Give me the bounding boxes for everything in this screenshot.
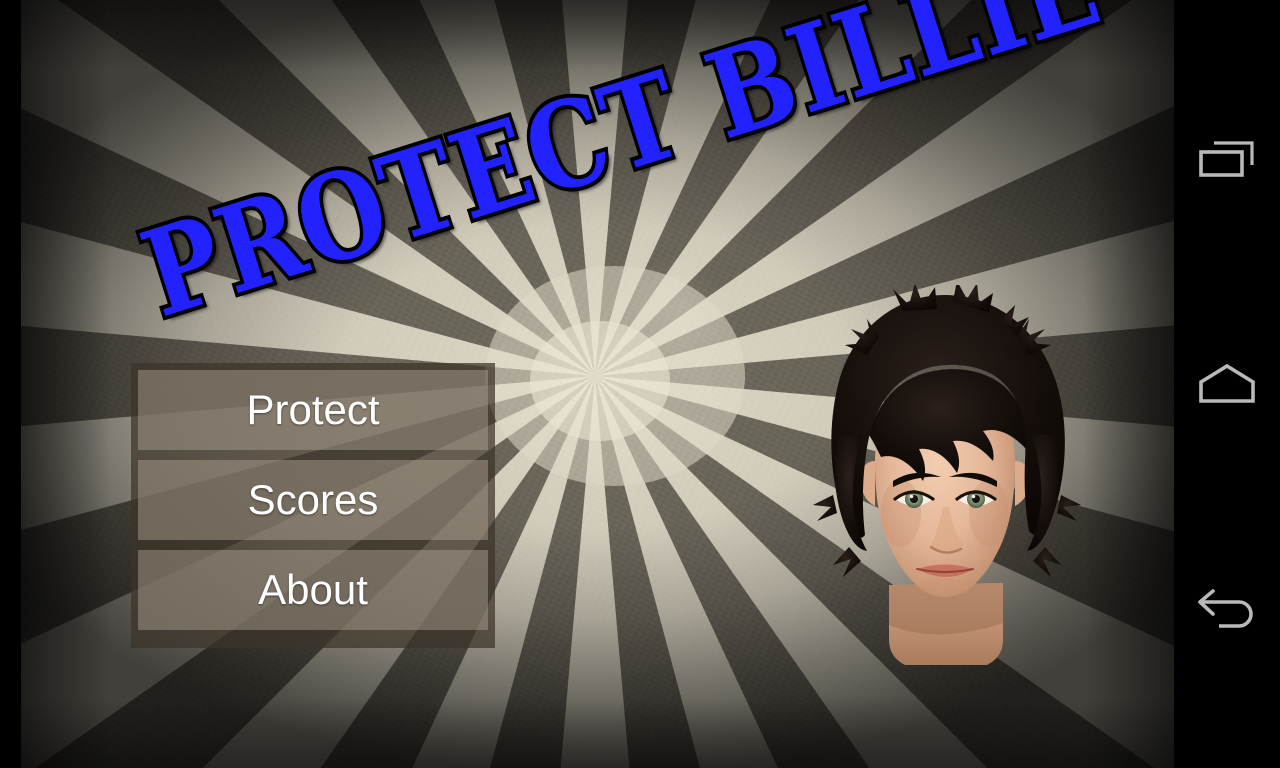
about-button[interactable]: About xyxy=(138,550,488,630)
scores-button[interactable]: Scores xyxy=(138,460,488,540)
recent-apps-button[interactable] xyxy=(1174,112,1280,208)
game-viewport: PROTECT BILLIE Protect Scores About xyxy=(21,0,1174,768)
device-screen: PROTECT BILLIE Protect Scores About xyxy=(0,0,1280,768)
recent-apps-icon xyxy=(1196,138,1258,182)
main-menu-panel: Protect Scores About xyxy=(131,363,495,648)
home-button[interactable] xyxy=(1174,336,1280,432)
home-icon xyxy=(1197,362,1257,406)
back-button[interactable] xyxy=(1174,560,1280,656)
back-icon xyxy=(1195,586,1259,630)
android-navigation-bar xyxy=(1174,0,1280,768)
left-black-gutter xyxy=(0,0,21,768)
protect-button[interactable]: Protect xyxy=(138,370,488,450)
